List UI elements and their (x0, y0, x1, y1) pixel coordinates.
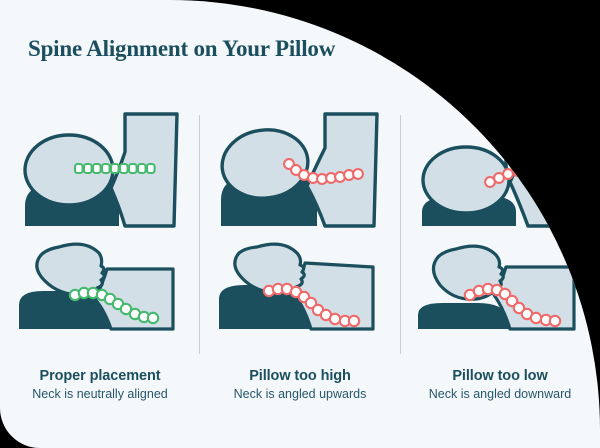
figure-too-low-top-view (408, 108, 593, 233)
brand-logo: ncoa national council on aging Adviser (455, 40, 580, 66)
page-title: Spine Alignment on Your Pillow (28, 36, 335, 62)
screenshot-stage: Spine Alignment on Your Pillow ncoa nati… (0, 0, 600, 448)
ncoa-wordmark: ncoa (455, 40, 495, 59)
torso-shape (307, 114, 377, 226)
caption-title: Proper placement (0, 368, 200, 384)
ncoa-logo: ncoa national council on aging (455, 40, 507, 66)
caption-subtitle: Neck is neutrally aligned (0, 387, 200, 401)
figure-too-high-top-view (207, 108, 392, 233)
caption-too-low: Pillow too low Neck is angled downward (400, 368, 600, 401)
ncoa-accent-letter-icon: a (485, 40, 495, 59)
infographic-card: Spine Alignment on Your Pillow ncoa nati… (0, 0, 600, 448)
ncoa-tagline: national council on aging (455, 61, 507, 66)
figure-proper-top-view (7, 108, 192, 233)
caption-too-high: Pillow too high Neck is angled upwards (200, 368, 400, 401)
caption-proper: Proper placement Neck is neutrally align… (0, 368, 200, 401)
caption-title: Pillow too low (400, 368, 600, 384)
adviser-wordmark: Adviser (522, 43, 580, 63)
figure-too-high-side-view (207, 233, 392, 348)
figure-proper-side-view (7, 233, 192, 348)
column-too-low (401, 108, 600, 358)
spine-chain-proper-top (75, 164, 155, 173)
captions-row: Proper placement Neck is neutrally align… (0, 368, 600, 401)
illustration-grid (0, 108, 600, 358)
ncoa-wordmark-text: nco (455, 40, 485, 59)
column-too-high (200, 108, 399, 358)
column-proper (0, 108, 199, 358)
caption-title: Pillow too high (200, 368, 400, 384)
caption-subtitle: Neck is angled upwards (200, 387, 400, 401)
logo-divider (514, 44, 515, 63)
caption-subtitle: Neck is angled downward (400, 387, 600, 401)
figure-too-low-side-view (408, 233, 593, 348)
pillow-shape (418, 303, 510, 329)
